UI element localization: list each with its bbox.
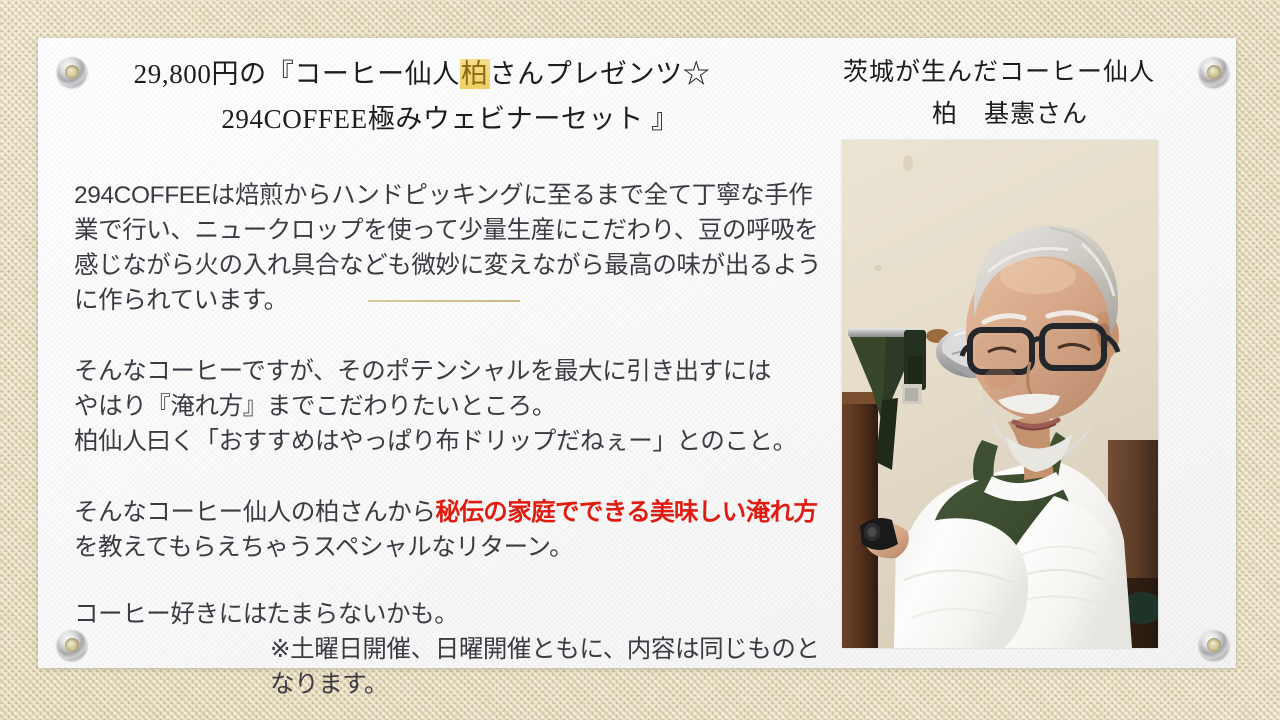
headline-suffix: さんプレゼンツ☆ xyxy=(490,59,711,89)
paragraph-3: そんなコーヒー仙人の柏さんから秘伝の家庭でできる美味しい淹れ方を教えてもらえちゃ… xyxy=(74,495,834,565)
photo-sleeve-left xyxy=(894,518,1028,648)
body-copy: 294COFFEEは焙煎からハンドピッキングに至るまで全て丁寧な手作業で行い、ニ… xyxy=(74,178,834,702)
paragraph-4: コーヒー好きにはたまらないかも。 xyxy=(74,597,834,632)
paragraph-3-suffix: を教えてもらえちゃうスペシャルなリターン。 xyxy=(74,534,573,561)
paragraph-1-underline xyxy=(368,300,520,302)
note-line: ※土曜日開催、日曜開催ともに、内容は同じものとなります。 xyxy=(74,632,834,702)
spacer-1 xyxy=(74,318,834,354)
spacer-3 xyxy=(74,565,834,597)
paragraph-2-line-2: やはり『淹れ方』までこだわりたいところ。 xyxy=(74,389,834,424)
headline-line-2: 294COFFEE極みウェビナーセット 』 xyxy=(60,97,800,142)
spacer-2 xyxy=(74,459,834,495)
portrait-photo xyxy=(842,140,1158,648)
paragraph-2-line-1: そんなコーヒーですが、そのポテンシャルを最大に引き出すには xyxy=(74,354,834,389)
photo-heading-line-1: 茨城が生んだコーヒー仙人 xyxy=(820,52,1200,94)
paragraph-3-prefix: そんなコーヒー仙人の柏さんから xyxy=(74,499,436,526)
photo-heading-line-2: 柏 基憲さん xyxy=(820,94,1200,136)
grommet-bottom-right-icon xyxy=(1199,630,1229,660)
headline-highlight: 柏 xyxy=(460,59,490,89)
headline-prefix: 29,800円の『コーヒー仙人 xyxy=(134,59,460,89)
paragraph-3-emphasis: 秘伝の家庭でできる美味しい淹れ方 xyxy=(436,499,818,526)
paragraph-1: 294COFFEEは焙煎からハンドピッキングに至るまで全て丁寧な手作業で行い、ニ… xyxy=(74,178,834,318)
photo-heading: 茨城が生んだコーヒー仙人 柏 基憲さん xyxy=(820,52,1200,136)
grommet-top-right-icon xyxy=(1199,57,1229,87)
headline: 29,800円の『コーヒー仙人柏さんプレゼンツ☆ 294COFFEE極みウェビナ… xyxy=(60,52,800,142)
headline-line-1: 29,800円の『コーヒー仙人柏さんプレゼンツ☆ xyxy=(60,52,800,97)
portrait-photo-graphic xyxy=(842,140,1158,648)
paragraph-2-line-3: 柏仙人曰く「おすすめはやっぱり布ドリップだねぇー」とのこと。 xyxy=(74,424,834,459)
